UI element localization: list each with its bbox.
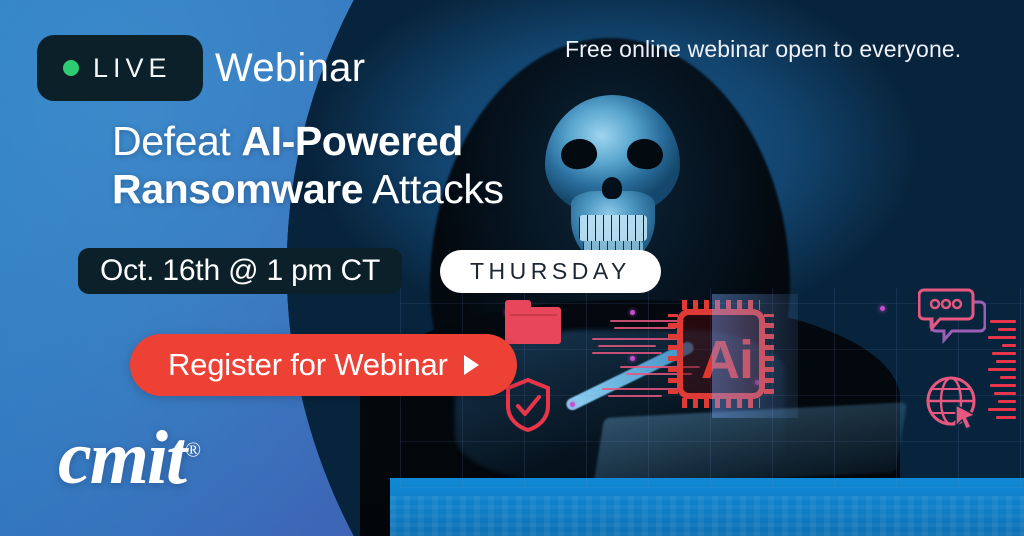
page-title: Defeat AI-Powered Ransomware Attacks (112, 118, 632, 214)
date-time-pill: Oct. 16th @ 1 pm CT (78, 248, 402, 294)
tagline: Free online webinar open to everyone. (565, 36, 961, 63)
signal-bars-decoration (986, 320, 1016, 430)
headline-suffix: Attacks (363, 166, 503, 212)
chip-ai-label: Ai (683, 315, 771, 405)
play-arrow-icon (464, 355, 479, 375)
cpu-chip-icon: Ai (668, 300, 774, 408)
webinar-word: Webinar (215, 46, 365, 91)
registered-trademark-symbol: ® (185, 438, 201, 462)
weekday-pill: THURSDAY (440, 250, 661, 293)
live-badge: LIVE (37, 35, 203, 101)
live-badge-label: LIVE (93, 53, 172, 84)
cmit-logo-text: cmit (58, 416, 185, 500)
register-button-label: Register for Webinar (168, 347, 448, 383)
shield-check-icon (505, 378, 551, 432)
globe-cursor-icon (925, 375, 981, 431)
folder-icon (505, 300, 561, 344)
live-indicator-dot (63, 60, 79, 76)
chat-bubble-icon (918, 288, 986, 344)
cmit-logo: cmit® (58, 420, 201, 496)
register-for-webinar-button[interactable]: Register for Webinar (130, 334, 517, 396)
headline-prefix: Defeat (112, 118, 241, 164)
date-time-label: Oct. 16th @ 1 pm CT (100, 254, 380, 288)
desk-texture (390, 496, 1024, 536)
weekday-label: THURSDAY (470, 258, 631, 285)
skull-teeth-upper (579, 215, 647, 241)
webinar-promo-banner: Ai LIVE Webinar Free online webinar open… (0, 0, 1024, 536)
